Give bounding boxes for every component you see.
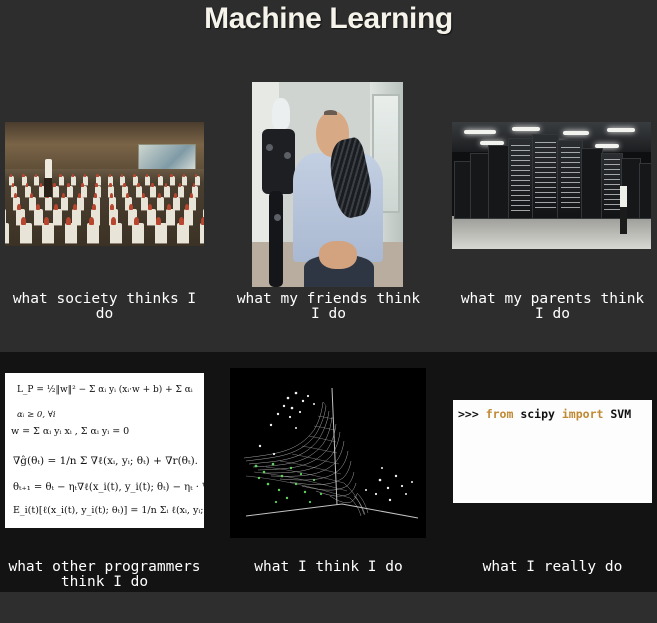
meme-image: Machine Learning what society thinks I d…: [0, 0, 657, 623]
robot-head: [272, 98, 290, 129]
module-name: scipy: [513, 407, 561, 421]
caption-what-other-programmers-think-i-do: what other programmers think I do: [0, 560, 209, 590]
caption-what-my-friends-think-i-do: what my friends think I do: [224, 292, 433, 322]
equation-update: θₜ₊₁ = θₜ − ηₜ∇ℓ(x_i(t), y_i(t); θₜ) − η…: [13, 482, 204, 493]
man-hands: [319, 241, 356, 269]
lab-man: [291, 111, 385, 287]
equation-constraint: αᵢ ≥ 0, ∀i: [17, 410, 56, 420]
page-title: Machine Learning: [0, 2, 657, 36]
man-hair: [324, 110, 337, 115]
image-what-my-friends-think-i-do: [252, 82, 403, 287]
image-what-society-thinks-i-do: [5, 122, 204, 246]
image-what-i-really-do: >>> from scipy import SVM: [453, 400, 652, 503]
wireframe-surface-plot: [230, 368, 426, 538]
equation-gradient: ∇ĝ(θₜ) = 1/n Σ ∇ℓ(xᵢ, yᵢ; θₜ) + ∇r(θₜ).: [13, 455, 198, 467]
server-rack: [532, 134, 560, 219]
caption-what-i-really-do: what I really do: [448, 560, 657, 575]
console-prompt: >>>: [458, 407, 486, 421]
robot-torso: [262, 129, 295, 195]
server-rack: [581, 148, 603, 219]
hall-person: [45, 159, 52, 186]
image-what-other-programmers-think-i-do: L_P = ½‖w‖² − Σ αᵢ yᵢ (xᵢ·w + b) + Σ αᵢ …: [5, 373, 204, 528]
server-rack: [470, 153, 490, 219]
caption-what-my-parents-think-i-do: what my parents think I do: [448, 292, 657, 322]
image-what-my-parents-think-i-do: [452, 122, 651, 249]
keyword-import: import: [562, 407, 604, 421]
caption-what-i-think-i-do: what I think I do: [224, 560, 433, 575]
datacenter-technician: [620, 186, 627, 216]
hall-robot-rows: [5, 164, 204, 246]
console-code-line: >>> from scipy import SVM: [458, 407, 631, 421]
server-rack: [557, 140, 583, 218]
caption-what-society-thinks-i-do: what society thinks I do: [0, 292, 209, 322]
server-rack: [508, 138, 534, 219]
background-band-footer: [0, 592, 657, 623]
equation-weights: w = Σ αᵢ yᵢ xᵢ , Σ αᵢ yᵢ = 0: [11, 426, 129, 437]
keyword-from: from: [486, 407, 514, 421]
server-rack: [639, 163, 651, 218]
symbol-name: SVM: [603, 407, 631, 421]
equation-expectation: E_i(t)[ℓ(x_i(t), y_i(t); θₜ)] = 1/n Σᵢ ℓ…: [13, 505, 204, 516]
robot-leg: [269, 191, 283, 287]
server-rack: [488, 145, 510, 218]
equation-lagrangian: L_P = ½‖w‖² − Σ αᵢ yᵢ (xᵢ·w + b) + Σ αᵢ: [17, 385, 193, 395]
image-what-i-think-i-do: [230, 368, 426, 538]
